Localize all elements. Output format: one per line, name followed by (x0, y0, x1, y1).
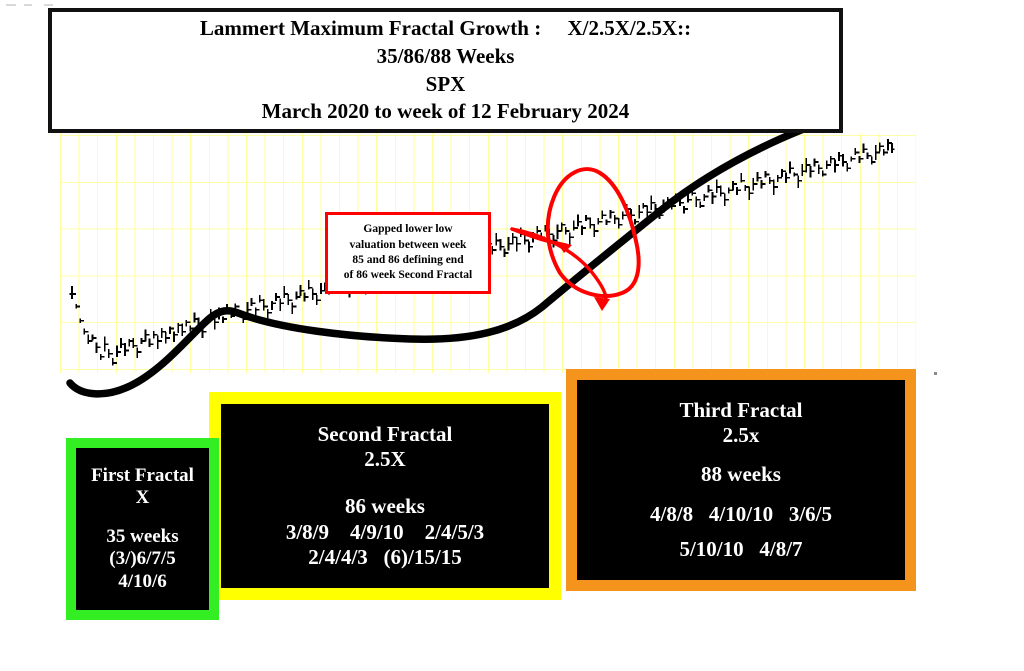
scan-artifact (44, 4, 53, 6)
title-line-1: Lammert Maximum Fractal Growth : X/2.5X/… (200, 15, 691, 43)
first-fractal-name: First Fractal (91, 465, 194, 487)
scan-artifact (6, 4, 16, 6)
chart-title-box: Lammert Maximum Fractal Growth : X/2.5X/… (48, 8, 843, 133)
second-fractal-multiple: 2.5X (364, 447, 405, 472)
title-line-3: SPX (426, 71, 466, 99)
legend-box-first-fractal: First Fractal X 35 weeks (3/)6/7/5 4/10/… (66, 438, 219, 620)
third-fractal-subseries-2: 5/10/10 4/8/7 (679, 537, 802, 562)
second-fractal-weeks: 86 weeks (345, 494, 425, 519)
scan-artifact (24, 4, 32, 6)
first-fractal-multiple: X (136, 487, 150, 509)
first-fractal-subseries-2: 4/10/6 (118, 571, 167, 593)
title-line-4: March 2020 to week of 12 February 2024 (262, 98, 630, 126)
second-fractal-name: Second Fractal (318, 422, 453, 447)
chart-page: Lammert Maximum Fractal Growth : X/2.5X/… (0, 0, 1024, 671)
callout-line-2: valuation between week (350, 238, 467, 253)
red-arrow-lower-head-icon (594, 297, 610, 311)
third-fractal-multiple: 2.5x (723, 423, 760, 448)
second-fractal-subseries-1: 3/8/9 4/9/10 2/4/5/3 (286, 520, 484, 545)
callout-line-1: Gapped lower low (363, 222, 452, 237)
first-fractal-subseries-1: (3/)6/7/5 (109, 548, 176, 570)
gap-annotation-callout: Gapped lower low valuation between week … (325, 212, 491, 294)
title-line-2: 35/86/88 Weeks (377, 43, 515, 71)
scan-speck (934, 372, 937, 375)
first-fractal-weeks: 35 weeks (106, 526, 178, 548)
red-gap-ellipse-annotation (548, 169, 639, 296)
legend-box-third-fractal: Third Fractal 2.5x 88 weeks 4/8/8 4/10/1… (566, 369, 916, 591)
third-fractal-subseries-1: 4/8/8 4/10/10 3/6/5 (650, 502, 832, 527)
callout-line-3: 85 and 86 defining end (352, 253, 463, 268)
third-fractal-name: Third Fractal (679, 398, 802, 423)
legend-box-second-fractal: Second Fractal 2.5X 86 weeks 3/8/9 4/9/1… (209, 392, 561, 600)
callout-line-4: of 86 week Second Fractal (344, 268, 472, 283)
third-fractal-weeks: 88 weeks (701, 462, 781, 487)
second-fractal-subseries-2: 2/4/4/3 (6)/15/15 (308, 545, 461, 570)
